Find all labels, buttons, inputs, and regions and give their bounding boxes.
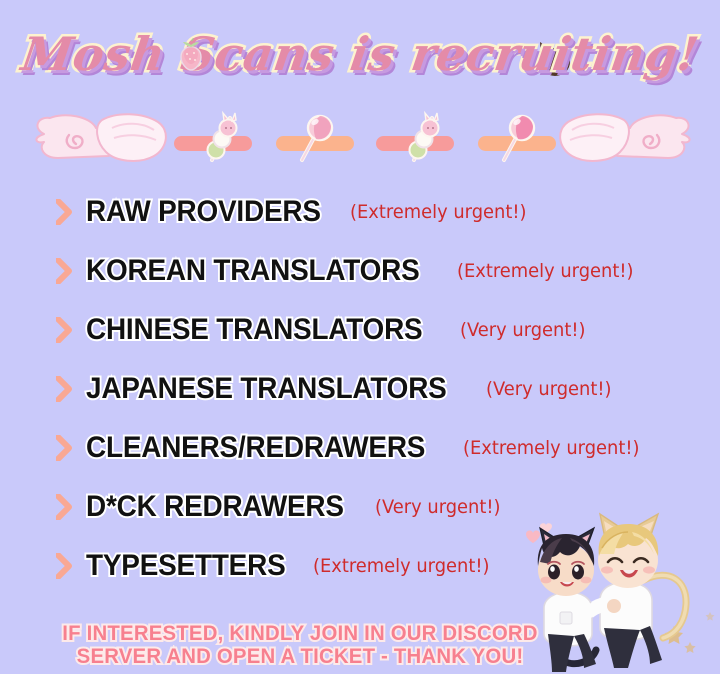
- list-item: CHINESE TRANSLATORS (Very urgent!): [0, 300, 720, 359]
- list-item: KOREAN TRANSLATORS (Extremely urgent!): [0, 241, 720, 300]
- role-name: D*CK REDRAWERS: [86, 492, 344, 522]
- role-urgency: (Very urgent!): [486, 380, 612, 399]
- roles-list: RAW PROVIDERS (Extremely urgent!) KOREAN…: [0, 182, 720, 595]
- winged-cloud-icon: [552, 104, 702, 170]
- list-item: CLEANERS/REDRAWERS (Extremely urgent!): [0, 418, 720, 477]
- chevron-right-icon: [56, 435, 72, 461]
- role-name: TYPESETTERS: [86, 551, 285, 581]
- role-urgency: (Very urgent!): [460, 321, 586, 340]
- list-item: D*CK REDRAWERS (Very urgent!): [0, 477, 720, 536]
- role-urgency: (Extremely urgent!): [463, 439, 639, 458]
- bunny-dango-icon: [398, 108, 446, 164]
- lollipop-icon: [492, 108, 540, 164]
- page-title: Mosh Scans is recruiting!: [17, 18, 704, 90]
- star-icon: [665, 612, 714, 653]
- footer-line-1: IF INTERESTED, KINDLY JOIN IN OUR DISCOR…: [9, 622, 591, 645]
- lollipop-icon: [290, 108, 338, 164]
- strawberry-icon: [176, 38, 206, 72]
- footer-line-2: SERVER AND OPEN A TICKET - THANK YOU!: [9, 645, 591, 668]
- chevron-right-icon: [56, 376, 72, 402]
- bunny-dango-icon: [196, 108, 244, 164]
- chevron-right-icon: [56, 258, 72, 284]
- role-name: JAPANESE TRANSLATORS: [86, 374, 447, 404]
- winged-cloud-icon: [24, 104, 174, 170]
- chevron-right-icon: [56, 317, 72, 343]
- chevron-right-icon: [56, 199, 72, 225]
- list-item: RAW PROVIDERS (Extremely urgent!): [0, 182, 720, 241]
- role-urgency: (Extremely urgent!): [313, 557, 489, 576]
- role-name: RAW PROVIDERS: [86, 197, 321, 227]
- chevron-right-icon: [56, 494, 72, 520]
- decorative-divider: [0, 100, 720, 172]
- role-name: KOREAN TRANSLATORS: [86, 256, 420, 286]
- role-name: CLEANERS/REDRAWERS: [86, 433, 425, 463]
- list-item: JAPANESE TRANSLATORS (Very urgent!): [0, 359, 720, 418]
- role-name: CHINESE TRANSLATORS: [86, 315, 422, 345]
- role-urgency: (Extremely urgent!): [457, 262, 633, 281]
- role-urgency: (Very urgent!): [375, 498, 501, 517]
- recruitment-poster: Mosh Scans is recruiting!: [0, 0, 720, 674]
- chevron-right-icon: [56, 553, 72, 579]
- role-urgency: (Extremely urgent!): [350, 203, 526, 222]
- title-block: Mosh Scans is recruiting!: [0, 18, 720, 96]
- list-item: TYPESETTERS (Extremely urgent!): [0, 536, 720, 595]
- footer-cta: IF INTERESTED, KINDLY JOIN IN OUR DISCOR…: [0, 622, 600, 668]
